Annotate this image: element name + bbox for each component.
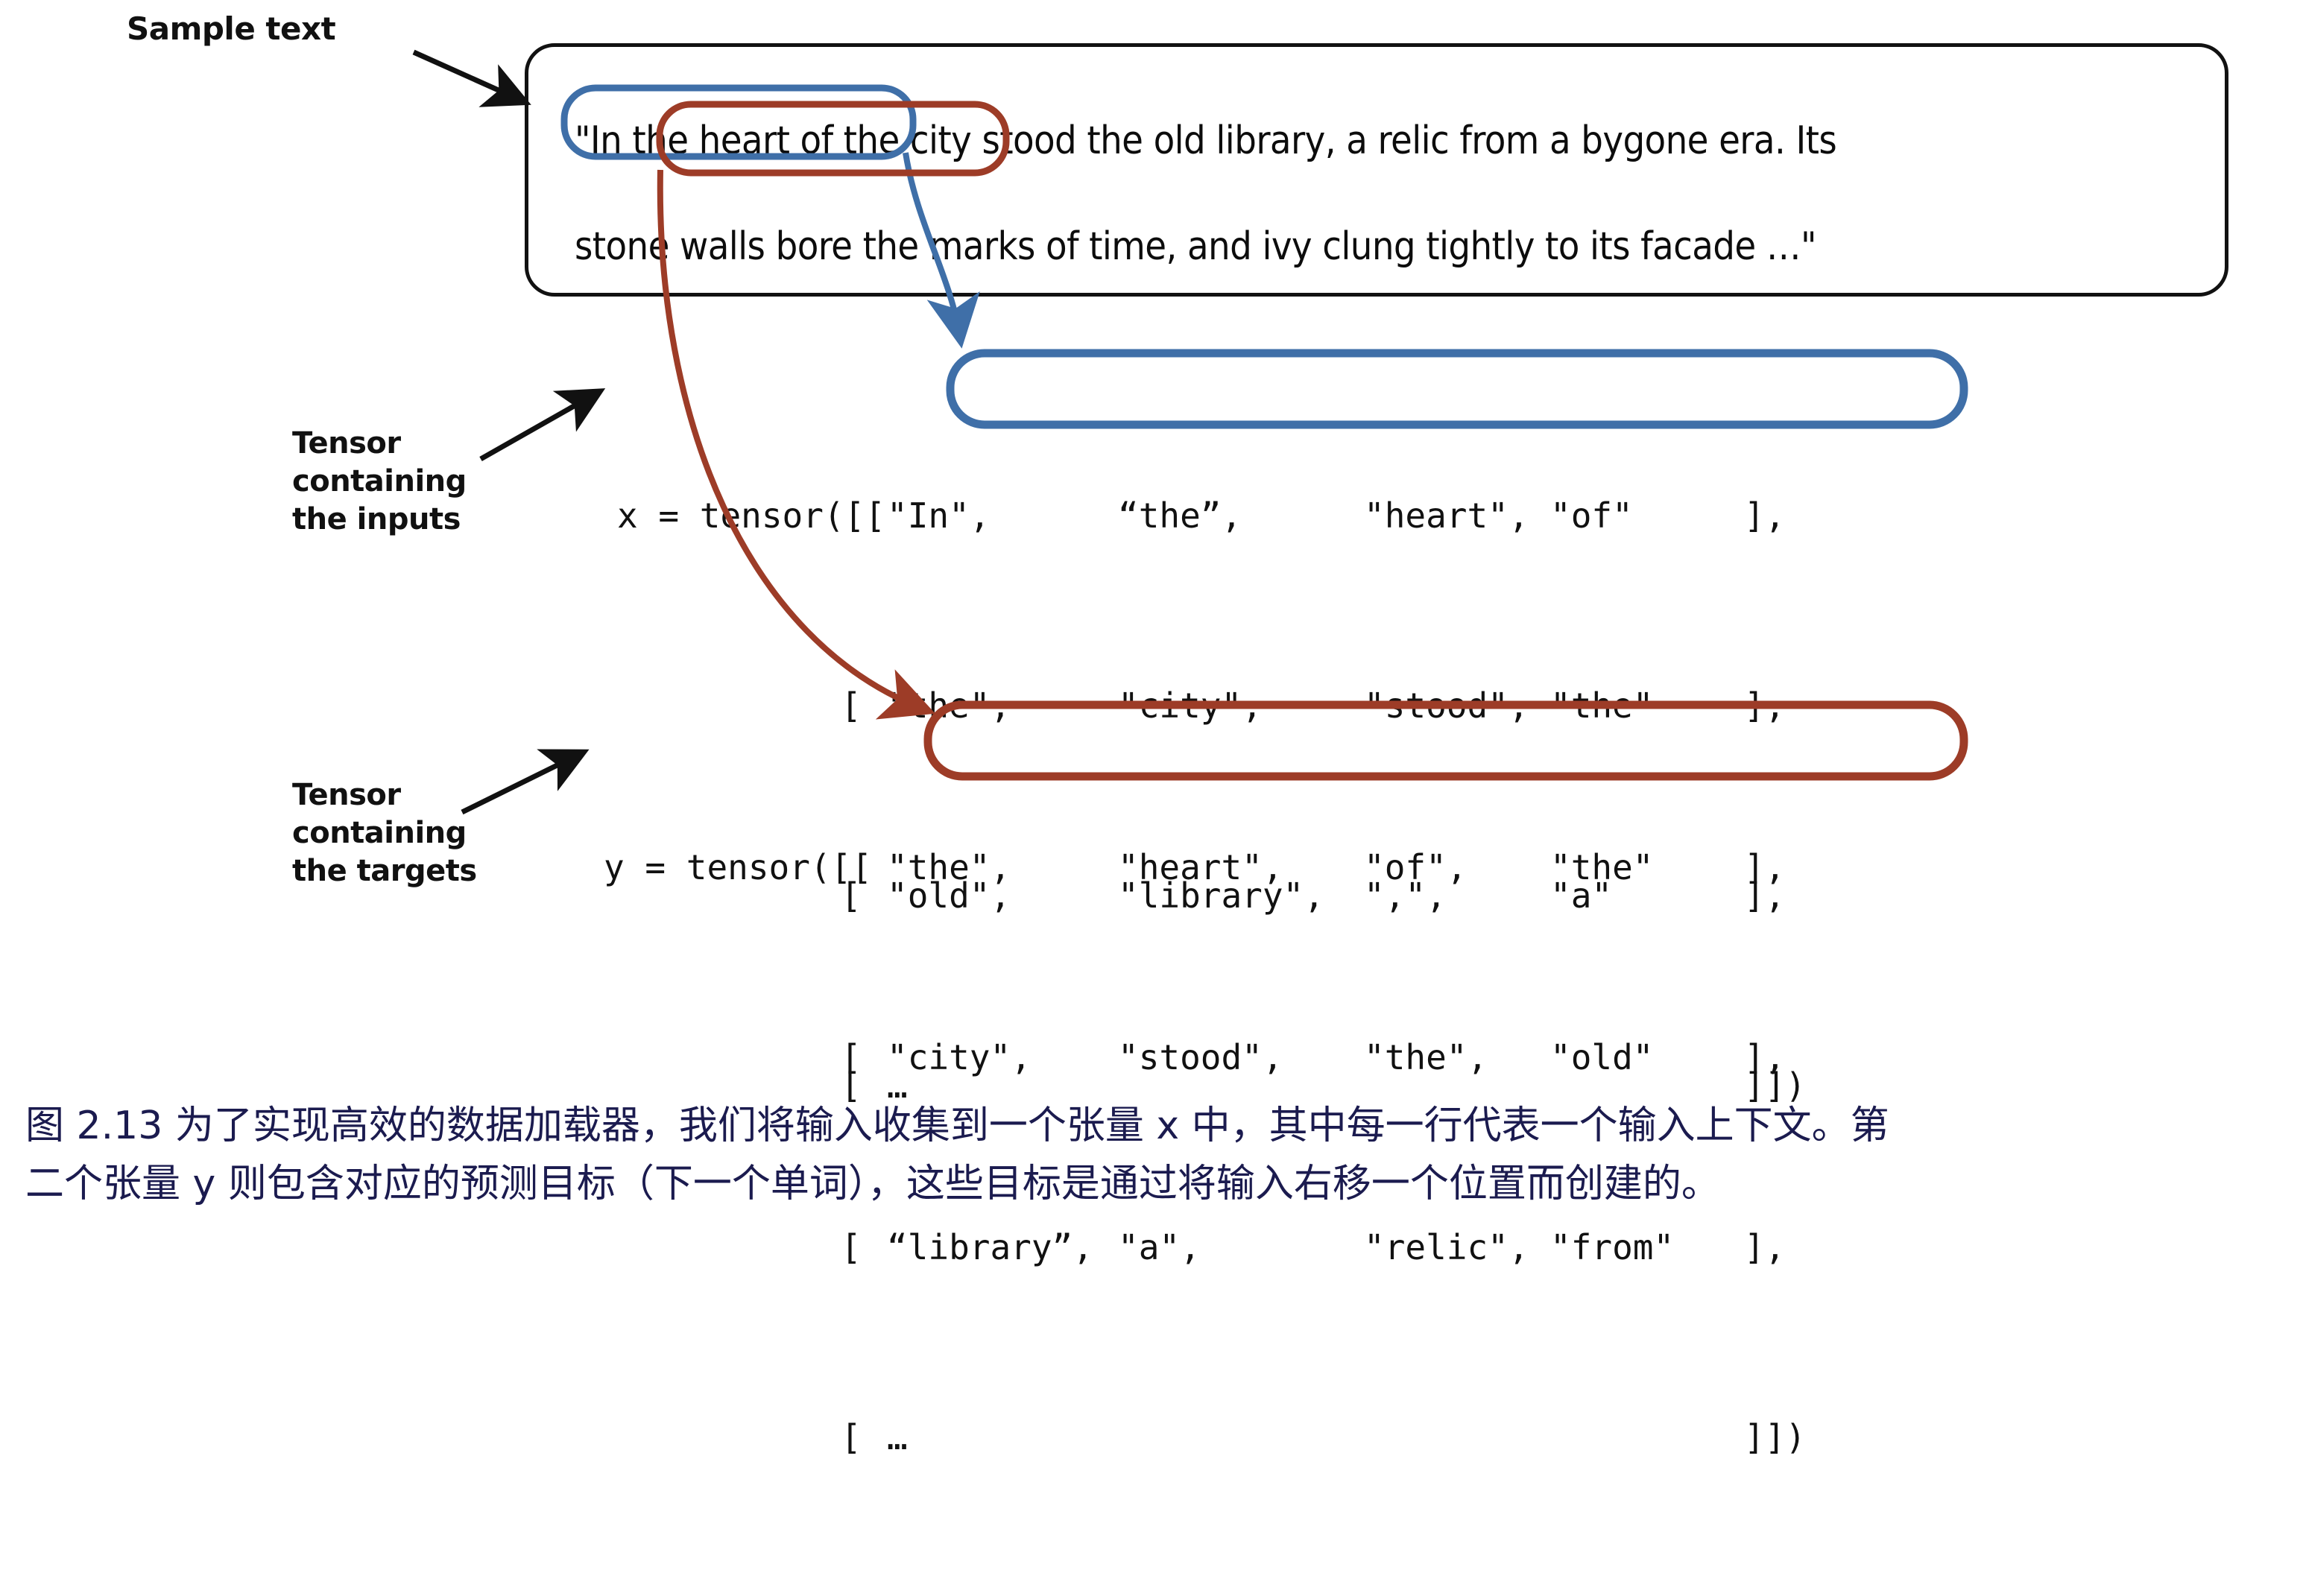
y-tensor-row-1: ["city","stood","the","old"], [604, 1026, 1856, 1089]
row-tail: ], [1744, 836, 1856, 899]
cell: "In", [887, 484, 1118, 548]
figure-canvas: Sample text Tensor containing the inputs… [0, 0, 2303, 1243]
cell: "relic", [1364, 1216, 1550, 1279]
y-tensor-prefix: y = tensor([[ [604, 836, 841, 899]
cell: “library”, [887, 1216, 1118, 1279]
arrow-tensor-targets [462, 754, 580, 812]
callout-label-sample-text: Sample text [127, 9, 335, 48]
row-tail: ], [1744, 1026, 1856, 1089]
row-tail: ], [1744, 484, 1856, 548]
cell: "from" [1550, 1216, 1744, 1279]
sample-text-line-2: stone walls bore the marks of time, and … [575, 224, 1816, 269]
cell: "of", [1364, 836, 1550, 899]
row-lead: [ [841, 1406, 887, 1469]
cell: "the", [887, 836, 1118, 899]
callout-label-tensor-targets: Tensor containing the targets [292, 776, 477, 890]
x-tensor-prefix: x = tensor([[ [617, 484, 841, 548]
y-tensor-row-3: […]]) [604, 1406, 1856, 1469]
cell: "stood", [1118, 1026, 1364, 1089]
row-tail: ], [1744, 1216, 1856, 1279]
cell: "a", [1118, 1216, 1364, 1279]
row-lead: [ [841, 1216, 887, 1279]
cell: "the" [1550, 836, 1744, 899]
cell: "old" [1550, 1026, 1744, 1089]
arrow-tensor-inputs [481, 393, 596, 459]
cell: “the”, [1118, 484, 1364, 548]
row-tail: ]]) [1744, 1406, 1856, 1469]
sample-text-box: "In the heart of the city stood the old … [525, 43, 2228, 297]
cell: "heart", [1118, 836, 1364, 899]
cell: … [887, 1406, 1118, 1469]
y-tensor-row-0: y = tensor([["the","heart","of","the"], [604, 836, 1856, 899]
x-tensor-row-0: x = tensor([["In",“the”,"heart","of"], [617, 484, 1856, 548]
y-tensor-block: y = tensor([["the","heart","of","the"], … [604, 709, 1856, 1596]
sample-text-line-1: "In the heart of the city stood the old … [575, 118, 1836, 163]
row-lead: [ [841, 1026, 887, 1089]
arrow-sample-text [414, 52, 522, 101]
cell: "heart", [1364, 484, 1550, 548]
y-tensor-row-2: [“library”,"a","relic","from"], [604, 1216, 1856, 1279]
cell: "of" [1550, 484, 1744, 548]
callout-label-tensor-inputs: Tensor containing the inputs [292, 425, 467, 538]
cell: "the", [1364, 1026, 1550, 1089]
cell: "city", [887, 1026, 1118, 1089]
